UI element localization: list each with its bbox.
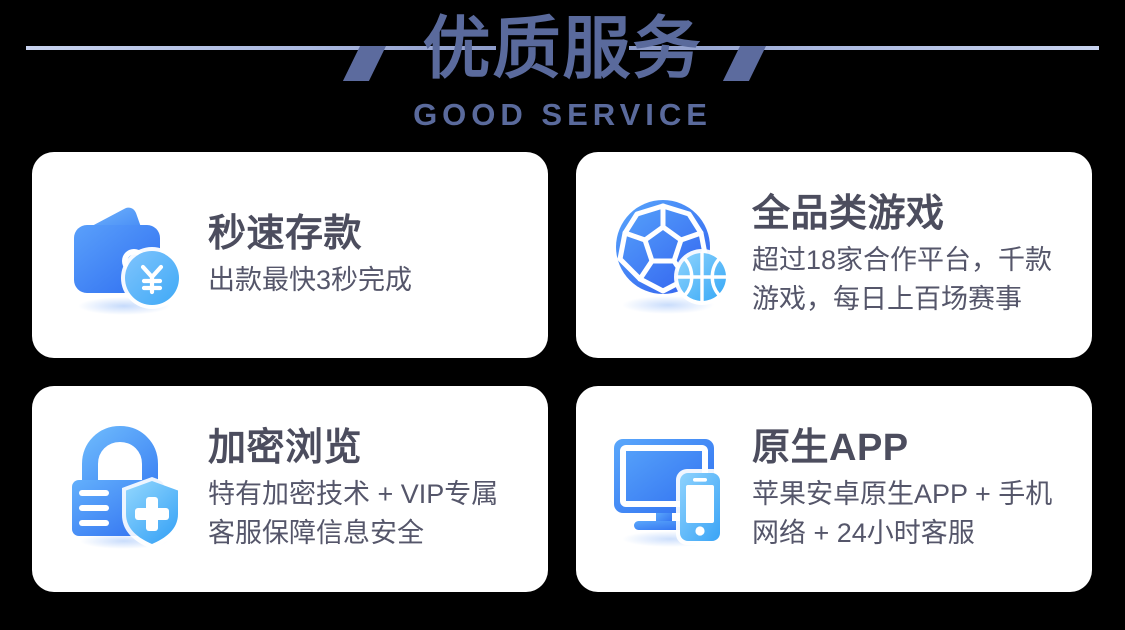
service-card-deposit[interactable]: 秒速存款 出款最快3秒完成 (32, 152, 548, 358)
card-title: 秒速存款 (208, 211, 522, 257)
soccer-basketball-icon (606, 189, 738, 321)
card-text-block: 加密浏览 特有加密技术 + VIP专属客服保障信息安全 (208, 425, 522, 553)
card-description: 苹果安卓原生APP + 手机网络 + 24小时客服 (752, 475, 1066, 553)
monitor-phone-icon (606, 423, 738, 555)
card-text-block: 原生APP 苹果安卓原生APP + 手机网络 + 24小时客服 (752, 425, 1066, 553)
card-text-block: 秒速存款 出款最快3秒完成 (208, 211, 522, 300)
lock-shield-icon (62, 423, 194, 555)
page-header: 优质服务 GOOD SERVICE (0, 0, 1125, 148)
card-description: 特有加密技术 + VIP专属客服保障信息安全 (208, 475, 522, 553)
service-card-encryption[interactable]: 加密浏览 特有加密技术 + VIP专属客服保障信息安全 (32, 386, 548, 592)
page-subtitle: GOOD SERVICE (0, 98, 1125, 132)
card-title: 全品类游戏 (752, 191, 1066, 237)
card-description: 出款最快3秒完成 (208, 261, 522, 300)
wallet-yen-icon (62, 189, 194, 321)
service-card-grid: 秒速存款 出款最快3秒完成 (32, 152, 1092, 592)
card-description: 超过18家合作平台，千款游戏，每日上百场赛事 (752, 241, 1066, 319)
page-title: 优质服务 (0, 6, 1125, 92)
card-text-block: 全品类游戏 超过18家合作平台，千款游戏，每日上百场赛事 (752, 191, 1066, 319)
card-title: 加密浏览 (208, 425, 522, 471)
service-card-games[interactable]: 全品类游戏 超过18家合作平台，千款游戏，每日上百场赛事 (576, 152, 1092, 358)
card-title: 原生APP (752, 425, 1066, 471)
service-card-native-app[interactable]: 原生APP 苹果安卓原生APP + 手机网络 + 24小时客服 (576, 386, 1092, 592)
